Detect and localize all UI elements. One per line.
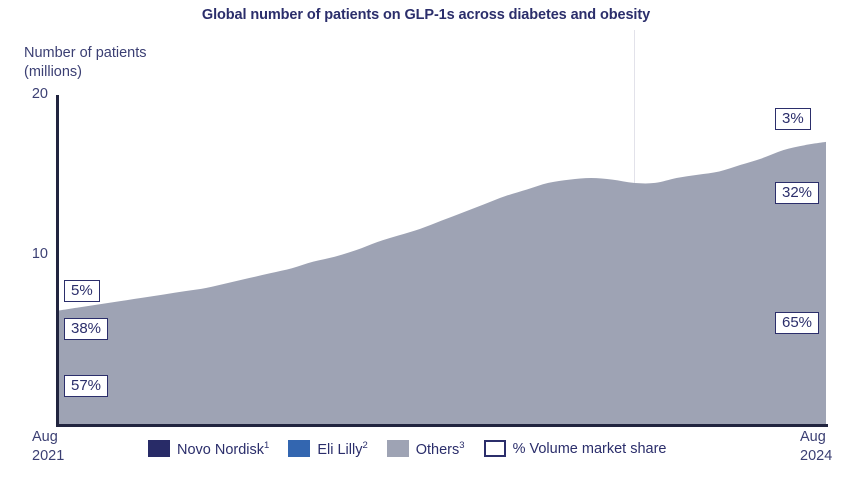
legend-footnote-marker: 3 xyxy=(459,440,464,451)
legend-item-label: % Volume market share xyxy=(513,441,667,457)
y-axis-line xyxy=(56,95,59,426)
x-axis-label-end-year: 2024 xyxy=(800,447,832,466)
label-left-lilly-share: 38% xyxy=(64,318,108,340)
legend-item-volume-market-share[interactable]: % Volume market share xyxy=(484,440,667,457)
legend-swatch-icon xyxy=(387,440,409,457)
legend-item-others[interactable]: Others3 xyxy=(387,440,465,458)
legend-item-novo-nordisk[interactable]: Novo Nordisk1 xyxy=(148,440,269,458)
x-axis-label-start: Aug 2021 xyxy=(32,428,64,466)
area-others xyxy=(57,142,826,424)
label-right-others-share: 3% xyxy=(775,108,811,130)
legend-item-label: Others3 xyxy=(416,440,465,458)
legend-footnote-marker: 2 xyxy=(362,440,367,451)
label-left-novo-share: 57% xyxy=(64,375,108,397)
legend-swatch-icon xyxy=(148,440,170,457)
chart-legend: Novo Nordisk1Eli Lilly2Others3% Volume m… xyxy=(148,440,686,458)
x-axis-label-end: Aug 2024 xyxy=(800,428,832,466)
x-axis-line xyxy=(56,424,828,427)
legend-swatch-icon xyxy=(288,440,310,457)
legend-swatch-outline-icon xyxy=(484,440,506,457)
chart-container: Global number of patients on GLP-1s acro… xyxy=(0,0,852,477)
label-left-others-share: 5% xyxy=(64,280,100,302)
label-right-lilly-share: 32% xyxy=(775,182,819,204)
x-axis-label-start-month: Aug xyxy=(32,428,64,447)
legend-item-label: Eli Lilly2 xyxy=(317,440,367,458)
x-axis-label-end-month: Aug xyxy=(800,428,832,447)
legend-item-label: Novo Nordisk1 xyxy=(177,440,269,458)
legend-footnote-marker: 1 xyxy=(264,440,269,451)
label-right-novo-share: 65% xyxy=(775,312,819,334)
stacked-area-plot xyxy=(0,0,852,477)
legend-item-eli-lilly[interactable]: Eli Lilly2 xyxy=(288,440,367,458)
x-axis-label-start-year: 2021 xyxy=(32,447,64,466)
